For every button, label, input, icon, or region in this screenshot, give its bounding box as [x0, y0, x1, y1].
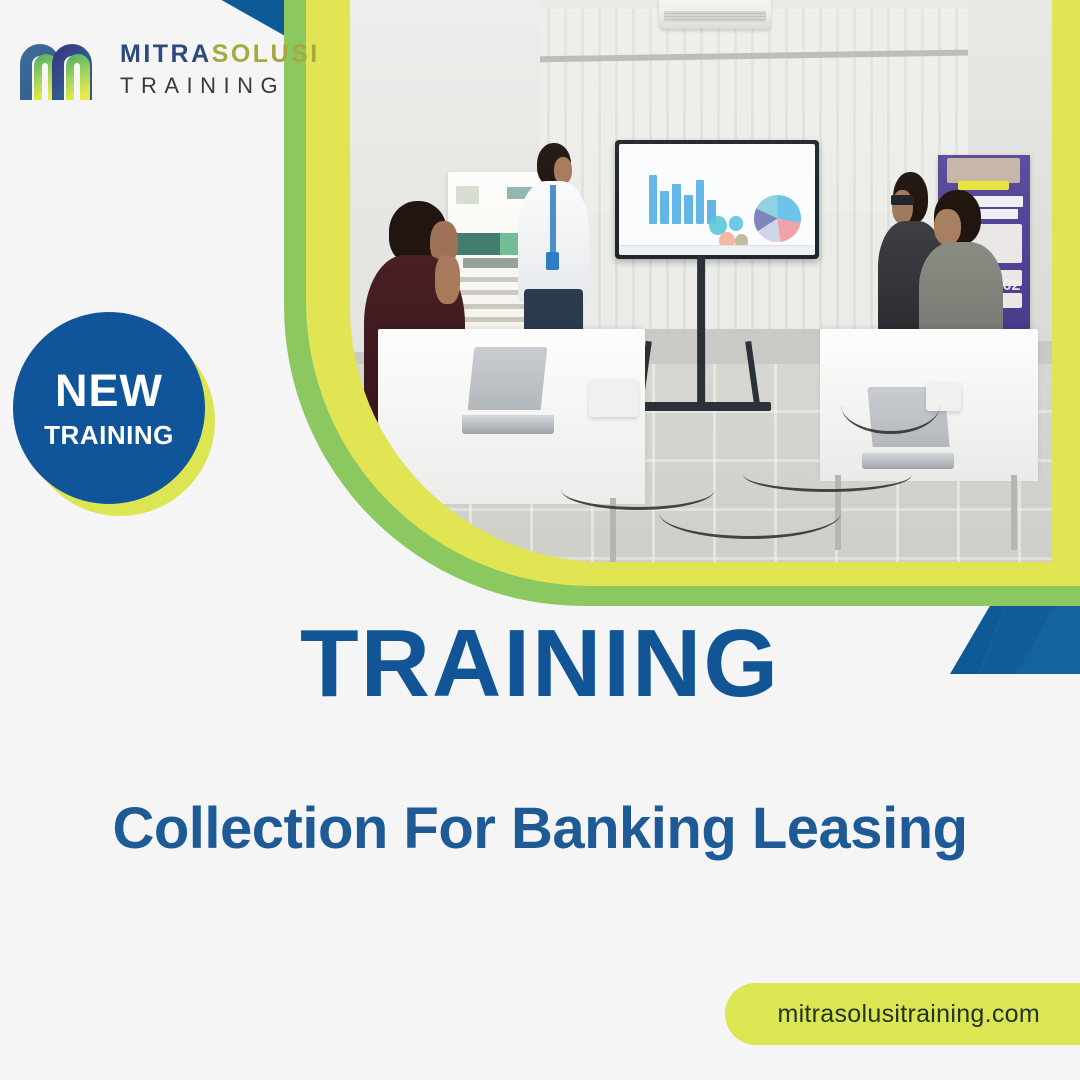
floor-cable — [743, 457, 911, 492]
screen-dashboard — [619, 144, 815, 255]
hero-photo-frame: 01 02 — [284, 0, 1080, 606]
dashboard-bar — [672, 184, 681, 224]
logo-wordmark-line2: TRAINING — [120, 75, 320, 97]
dashboard-bar — [696, 180, 705, 225]
projector — [589, 379, 638, 417]
presentation-screen — [615, 140, 819, 259]
presenter-lanyard — [550, 185, 555, 256]
floor-cable — [659, 486, 842, 538]
banner-header-image — [947, 158, 1020, 182]
screen-taskbar — [619, 245, 815, 255]
dashboard-bar — [660, 191, 669, 224]
banner-number-02: 02 — [1003, 277, 1021, 295]
participant-glasses — [891, 195, 915, 205]
website-url: mitrasolusitraining.com — [777, 1000, 1040, 1029]
website-pill[interactable]: mitrasolusitraining.com — [725, 983, 1080, 1045]
dashboard-pie-chart — [754, 195, 801, 242]
brand-logo[interactable]: MITRASOLUSI TRAINING — [18, 36, 320, 102]
page-title: TRAINING — [0, 616, 1080, 712]
dashboard-bar — [684, 195, 693, 224]
page-subtitle: Collection For Banking Leasing — [0, 800, 1080, 858]
logo-word-mitra: MITRA — [120, 40, 212, 68]
participant-hands — [435, 255, 460, 304]
floor-cable — [841, 376, 939, 434]
laptop-base — [462, 415, 553, 434]
ac-vent — [664, 11, 765, 22]
air-conditioner — [659, 0, 771, 29]
screen-stand-pole — [697, 256, 705, 407]
logo-word-solusi: SOLUSI — [212, 40, 320, 68]
presenter-id-card — [546, 252, 559, 270]
logo-wordmark-line1: MITRASOLUSI — [120, 42, 320, 67]
presenter-standing — [515, 143, 592, 341]
badge-label-training: TRAINING — [44, 422, 174, 448]
mitra-solusi-m-logo-icon — [18, 36, 110, 102]
badge-label-new: NEW — [55, 368, 163, 413]
laptop-left — [462, 347, 553, 434]
dashboard-bubble — [729, 216, 743, 230]
laptop-screen — [468, 347, 548, 410]
table-leg — [413, 498, 419, 562]
banner-badge — [958, 181, 1009, 190]
screen-stand-base — [638, 402, 771, 411]
participant-face — [934, 209, 961, 246]
training-photo: 01 02 — [350, 0, 1052, 562]
table-leg — [1011, 475, 1017, 551]
new-training-badge[interactable]: NEW TRAINING — [13, 312, 223, 562]
dashboard-bar — [649, 175, 658, 224]
badge-circle: NEW TRAINING — [13, 312, 205, 504]
